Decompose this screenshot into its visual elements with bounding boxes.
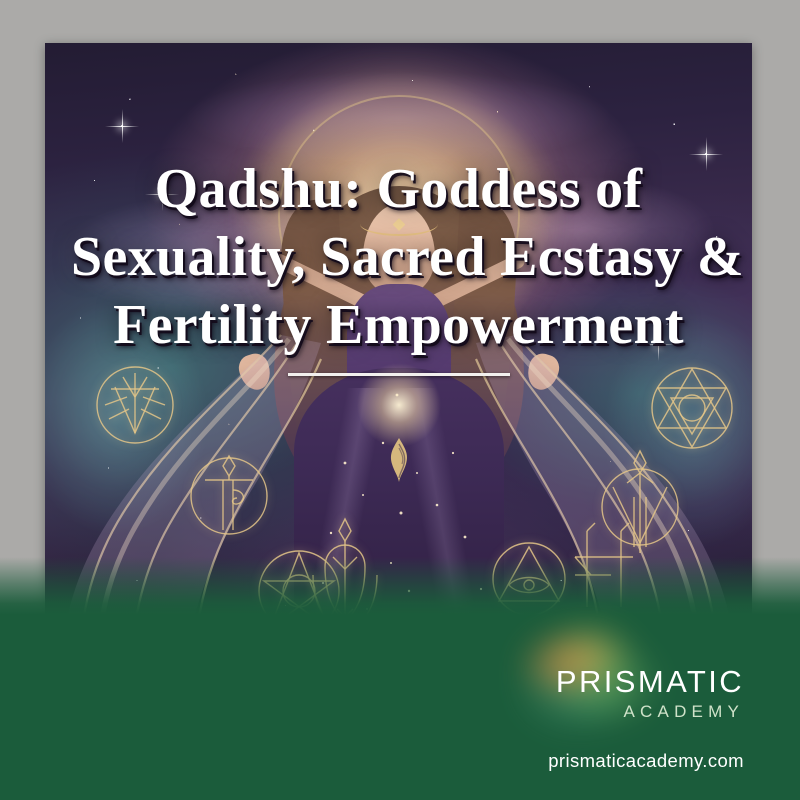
- brand-footer: PRISMATIC ACADEMY prismaticacademy.com: [0, 615, 800, 800]
- brand-lockup: PRISMATIC ACADEMY prismaticacademy.com: [548, 665, 744, 772]
- brand-url[interactable]: prismaticacademy.com: [548, 750, 744, 772]
- brand-name: PRISMATIC: [548, 665, 744, 699]
- footer-gradient-fade: [0, 557, 800, 615]
- title-line-3: Fertility Empowerment: [71, 291, 726, 359]
- title-line-2: Sexuality, Sacred Ecstasy &: [71, 223, 726, 291]
- page-title: Qadshu: Goddess of Sexuality, Sacred Ecs…: [71, 155, 726, 359]
- title-block: Qadshu: Goddess of Sexuality, Sacred Ecs…: [45, 155, 752, 376]
- page-canvas: Qadshu: Goddess of Sexuality, Sacred Ecs…: [0, 0, 800, 800]
- title-divider: [288, 373, 510, 376]
- title-line-1: Qadshu: Goddess of: [71, 155, 726, 223]
- brand-subtitle: ACADEMY: [548, 700, 744, 724]
